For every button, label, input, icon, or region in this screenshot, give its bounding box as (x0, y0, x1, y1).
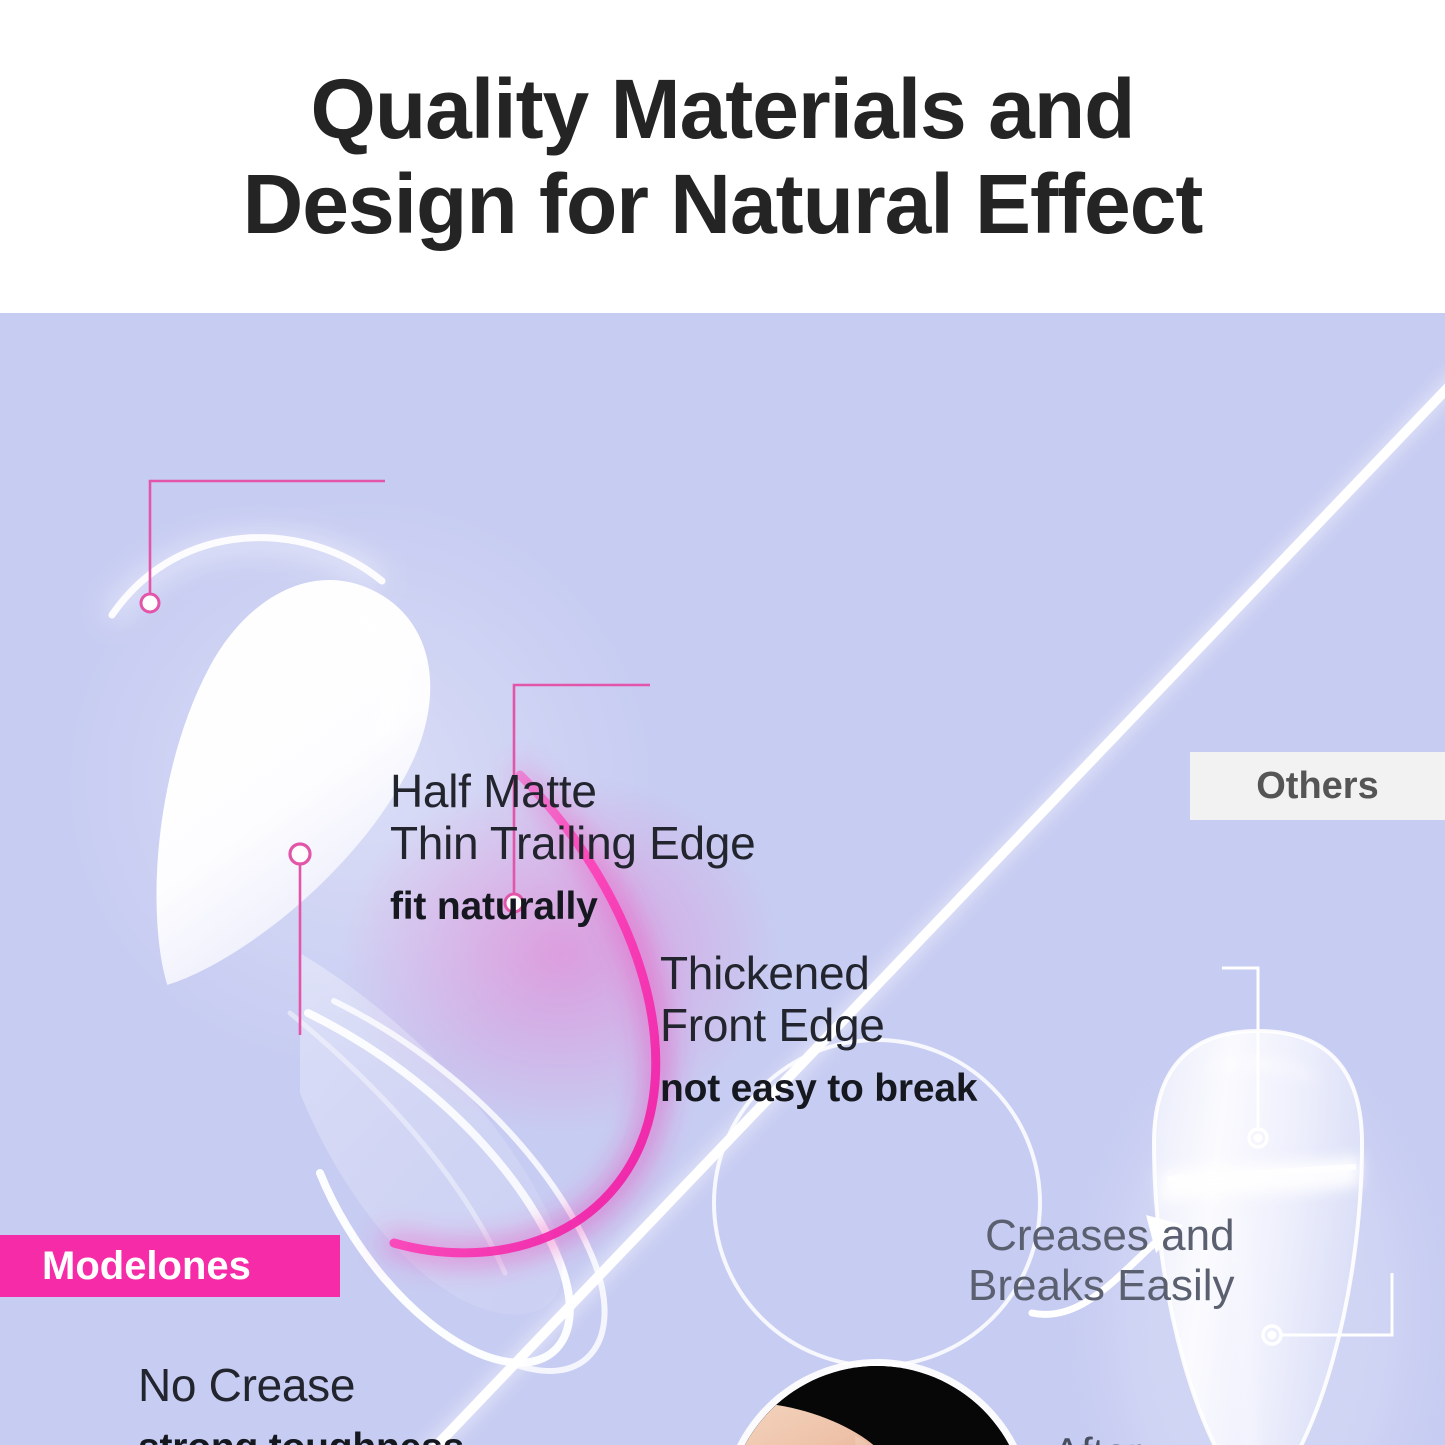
callout-half-matte: Half Matte Thin Trailing Edge fit natura… (390, 765, 755, 931)
bend-demo-photo (727, 1366, 1027, 1445)
callout-no-crease-title: No Crease (138, 1359, 464, 1411)
callout-no-crease: No Crease strong toughness (138, 1359, 464, 1445)
callout-half-matte-subtitle: fit naturally (390, 884, 755, 931)
callout-half-matte-title: Half Matte Thin Trailing Edge (390, 765, 755, 870)
comparison-badge-others: Others (1190, 752, 1445, 820)
callout-thickened-title: Thickened Front Edge (660, 947, 977, 1052)
callout-thickened: Thickened Front Edge not easy to break (660, 947, 977, 1113)
callout-no-crease-subtitle: strong toughness (138, 1425, 464, 1445)
comparison-badge-label: Others (1256, 765, 1378, 808)
callout-after-bend-title: After Bend (1053, 1429, 1151, 1445)
callout-creases-breaks: Creases and Breaks Easily (968, 1211, 1235, 1311)
callout-thickened-subtitle: not easy to break (660, 1066, 977, 1113)
brand-badge-label: Modelones (42, 1244, 251, 1289)
callout-creases-title: Creases and Breaks Easily (968, 1211, 1235, 1311)
brand-badge-modelones: Modelones (0, 1235, 340, 1297)
leader-dot-half-matte (141, 594, 159, 612)
leader-dot-no-crease (290, 844, 310, 864)
bend-demo-illustration (727, 1366, 1027, 1445)
page-title: Quality Materials and Design for Natural… (173, 62, 1273, 250)
infographic-root: Quality Materials and Design for Natural… (0, 0, 1445, 1445)
callout-after-bend: After Bend (1053, 1429, 1151, 1445)
header-band: Quality Materials and Design for Natural… (0, 0, 1445, 313)
